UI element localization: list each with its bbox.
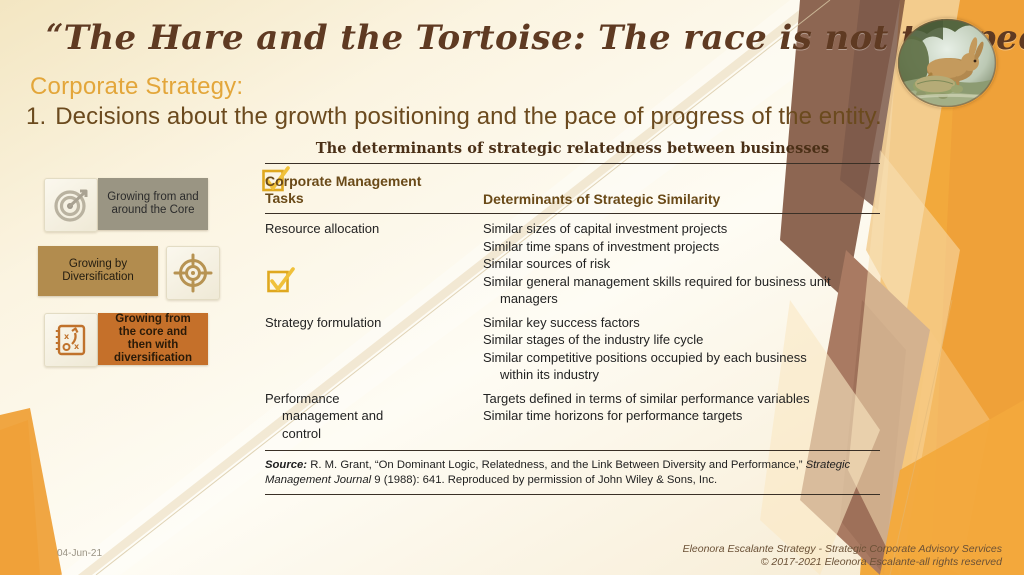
determinant-line: Similar sources of risk [483, 255, 880, 273]
target-arrow-icon [44, 178, 98, 232]
determinants-table: The determinants of strategic relatednes… [265, 140, 880, 495]
growth-option-core[interactable]: Growing from and around the Core [44, 178, 208, 232]
determinant-line: managers [483, 290, 880, 308]
slide-credit: Eleonora Escalante Strategy - Strategic … [683, 543, 1002, 569]
slide-date: 04-Jun-21 [57, 548, 102, 559]
table-header-col1-line1: Corporate Management [265, 173, 483, 190]
determinant-line: Similar key success factors [483, 314, 880, 332]
table-cell-task: Resource allocation [265, 220, 483, 308]
bullet-number: 1. [26, 103, 46, 130]
determinant-line: Similar general management skills requir… [483, 273, 880, 291]
task-line: Performance [265, 390, 483, 408]
bullet-text: Decisions about the growth positioning a… [55, 103, 882, 130]
table-header-col2: Determinants of Strategic Similarity [483, 191, 880, 207]
growth-option-core-then-diversification[interactable]: x x Growing from the core and then with … [44, 313, 208, 367]
svg-text:x: x [74, 342, 80, 351]
determinant-line: Targets defined in terms of similar perf… [483, 390, 880, 408]
table-title: The determinants of strategic relatednes… [265, 140, 880, 157]
determinant-line: Similar time spans of investment project… [483, 238, 880, 256]
title-open-quote: “ [46, 18, 64, 53]
table-row: Resource allocation Similar sizes of cap… [265, 214, 880, 308]
determinant-line: Similar sizes of capital investment proj… [483, 220, 880, 238]
table-header-row: Corporate Management Tasks Determinants … [265, 164, 880, 213]
determinant-line: Similar stages of the industry life cycl… [483, 331, 880, 349]
hare-and-tortoise-image [897, 18, 997, 108]
task-line: Resource allocation [265, 220, 483, 238]
determinant-line: Similar time horizons for performance ta… [483, 407, 880, 425]
table-body: Resource allocation Similar sizes of cap… [265, 214, 880, 450]
table-cell-determinants: Similar sizes of capital investment proj… [483, 220, 880, 308]
title-text: The Hare and the Tortoise: The race is n… [64, 18, 1024, 58]
table-cell-determinants: Targets defined in terms of similar perf… [483, 390, 880, 443]
table-source-note: Source: R. M. Grant, “On Dominant Logic,… [265, 451, 877, 494]
table-cell-task: Performance management and control [265, 390, 483, 443]
growth-options-group: Growing from and around the Core Growing… [40, 178, 230, 378]
credit-line-2: © 2017-2021 Eleonora Escalante-all right… [683, 556, 1002, 569]
task-line: management and [265, 407, 483, 425]
source-text-1: R. M. Grant, “On Dominant Logic, Related… [307, 459, 806, 471]
table-cell-determinants: Similar key success factors Similar stag… [483, 314, 880, 384]
source-label: Source: [265, 459, 307, 471]
table-row: Performance management and control Targe… [265, 384, 880, 443]
table-header-col1-line2: Tasks [265, 190, 483, 207]
bullet-item: 1.Decisions about the growth positioning… [26, 103, 882, 131]
table-header-col1: Corporate Management Tasks [265, 173, 483, 207]
table-row: Strategy formulation Similar key success… [265, 308, 880, 384]
growth-option-diversification-label: Growing by Diversification [38, 246, 158, 296]
growth-option-core-label: Growing from and around the Core [98, 178, 208, 230]
source-text-2: 9 (1988): 641. Reproduced by permission … [371, 474, 717, 486]
credit-line-1: Eleonora Escalante Strategy - Strategic … [683, 543, 1002, 556]
growth-option-core-then-diversification-label: Growing from the core and then with dive… [98, 313, 208, 365]
svg-text:x: x [64, 332, 70, 341]
crosshair-icon [166, 246, 220, 300]
task-line: control [265, 425, 483, 443]
slide-canvas: “The Hare and the Tortoise: The race is … [0, 0, 1024, 575]
table-cell-task: Strategy formulation [265, 314, 483, 384]
slide-title: “The Hare and the Tortoise: The race is … [46, 18, 876, 70]
slide-subtitle: Corporate Strategy: [30, 73, 243, 101]
table-rule-bottom [265, 494, 880, 495]
determinant-line: Similar competitive positions occupied b… [483, 349, 880, 367]
strategy-playbook-icon: x x [44, 313, 98, 367]
task-line: Strategy formulation [265, 314, 483, 332]
determinant-line: within its industry [483, 366, 880, 384]
growth-option-diversification[interactable]: Growing by Diversification [38, 246, 220, 300]
